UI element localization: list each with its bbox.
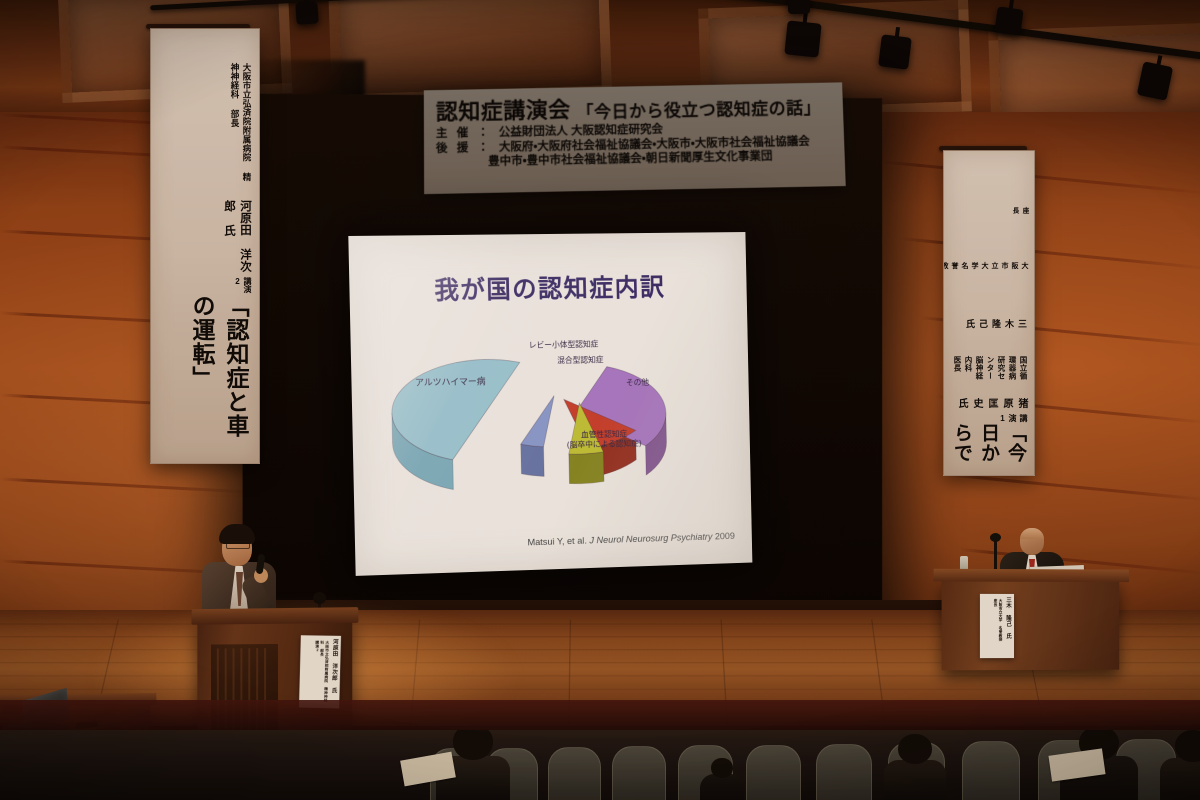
pie-label-other: その他 <box>604 378 671 389</box>
desk-nameplate-name: 三木 隆己 氏 <box>1004 597 1012 655</box>
slide-surface: 我が国の認知症内訳 アルツハイマー病 血管性認知症(脳卒中による認知症) 混合型… <box>348 232 752 576</box>
wall-groove <box>881 160 1200 195</box>
audience-chair <box>612 746 666 800</box>
slide-title: 我が国の認知症内訳 <box>349 267 747 308</box>
lecture1-banner: 「今日からできる認知症予防」 講演1 猪原 匡史 氏 国立循環器病研究センター … <box>943 150 1035 476</box>
desk-nameplate: 三木 隆己 氏 大阪市立大学 名誉教授 座長 <box>980 594 1014 658</box>
event-title-sub: 「今日から役立つ認知症の話」 <box>576 94 821 124</box>
audience-chair <box>816 744 872 800</box>
stage-light <box>788 0 810 14</box>
pie-label-line: その他 <box>604 378 671 389</box>
stage-light <box>994 6 1023 35</box>
desk-top <box>933 569 1129 582</box>
podium-mic-head <box>313 592 326 604</box>
lecture1-affiliation: 国立循環器病研究センター 脳神経内科 医長 <box>952 330 1029 384</box>
event-title-main: 認知症講演会 <box>436 92 571 126</box>
host-label: 主 催 ： <box>436 126 492 142</box>
lectern-nameplate: 河原田 洋次郎 氏 大阪市立弘済院附属病院 精神神経科 部長 講演2 <box>299 635 341 708</box>
pie-label-mixed: 混合型認知症 <box>532 355 629 367</box>
pie-chart: アルツハイマー病 血管性認知症(脳卒中による認知症) 混合型認知症 その他 レビ… <box>350 325 751 532</box>
support-label: 後 援 ： <box>436 140 492 156</box>
wall-groove <box>0 477 250 493</box>
chairperson-label: 座長 <box>1009 157 1029 214</box>
audience-area <box>0 730 1200 800</box>
audience-member <box>700 754 744 800</box>
stage-light <box>295 1 318 24</box>
audience-member-body <box>1160 758 1200 800</box>
chairperson-desk: 三木 隆己 氏 大阪市立大学 名誉教授 座長 <box>942 578 1120 671</box>
audience-member <box>436 730 510 800</box>
audience-member <box>884 730 946 800</box>
lecture-hall-photo: 認知症講演会 「今日から役立つ認知症の話」 主 催 ： 公益財団法人 大阪認知症… <box>0 0 1200 800</box>
citation-year: 2009 <box>715 531 735 542</box>
lecture2-title: 「認知症と車の運転」 <box>185 294 253 455</box>
audience-member <box>1060 730 1138 800</box>
slide-citation: Matsui Y, et al. J Neurol Neurosurg Psyc… <box>527 531 735 548</box>
projection-screen: 我が国の認知症内訳 アルツハイマー病 血管性認知症(脳卒中による認知症) 混合型… <box>348 232 752 576</box>
chairperson-hairline <box>1020 528 1044 539</box>
lecture2-kicker: 講演2 <box>233 273 253 294</box>
audience-chair <box>548 747 601 800</box>
lecture2-banner: 「認知症と車の運転」 講演2 河原田 洋次郎 氏 大阪市立弘済院附属病院 精神神… <box>150 28 260 464</box>
citation-journal: J Neurol Neurosurg Psychiatry <box>589 532 712 547</box>
lectern-nameplate-name: 河原田 洋次郎 氏 <box>329 639 339 706</box>
audience-member-head <box>898 734 932 764</box>
lecture1-title: 「今日からできる認知症予防」 <box>943 423 1029 469</box>
lecture1-speaker: 猪原 匡史 氏 <box>954 384 1029 410</box>
audience-chair <box>746 745 801 800</box>
chairperson-affiliation: 大阪市立大学 名誉教授 <box>943 214 1029 275</box>
chairperson-name: 三木 隆己 氏 <box>964 275 1029 330</box>
presenter-glasses <box>226 541 250 549</box>
audience-member-head <box>711 758 733 778</box>
lectern-top <box>191 607 358 625</box>
stage-light <box>784 20 821 57</box>
wall-groove <box>950 474 1200 502</box>
lecture2-speaker: 河原田 洋次郎 氏 <box>221 186 253 273</box>
audience-member <box>1160 730 1200 800</box>
lecture1-kicker: 講演1 <box>998 410 1029 423</box>
citation-author: Matsui Y, et al. <box>527 536 587 549</box>
pie-label-line: 混合型認知症 <box>532 355 629 367</box>
event-title-banner: 認知症講演会 「今日から役立つ認知症の話」 主 催 ： 公益財団法人 大阪認知症… <box>424 82 846 194</box>
audience-chair <box>962 741 1020 800</box>
stage-light <box>878 34 912 69</box>
audience-member-head <box>1175 730 1200 762</box>
pie-label-vascular: 血管性認知症(脳卒中による認知症) <box>532 428 677 451</box>
pie-slice-side <box>569 452 604 484</box>
lecture2-affiliation: 大阪市立弘済院附属病院 精神神経科 部長 <box>229 37 253 186</box>
audience-member-body <box>884 760 946 800</box>
